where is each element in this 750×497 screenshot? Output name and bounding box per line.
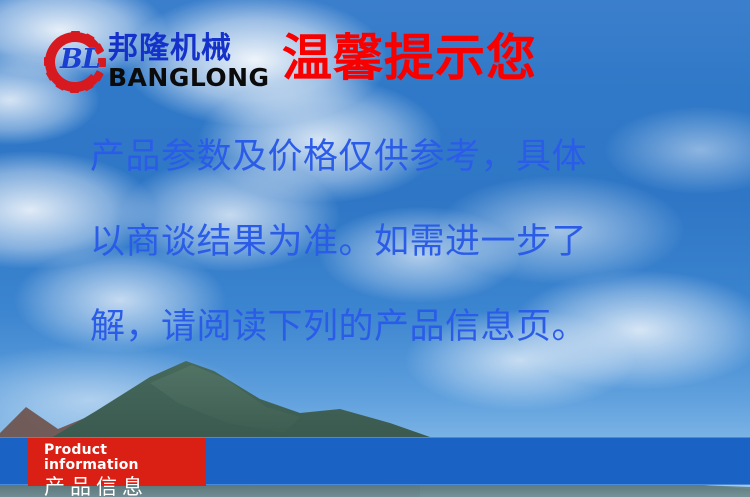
logo-company-cn: 邦隆机械: [108, 33, 270, 65]
brand-logo: BL 邦隆机械 BANGLONG: [44, 26, 270, 98]
section-label-block: Product information 产品信息: [28, 438, 206, 486]
headline-title: 温馨提示您: [282, 33, 537, 83]
section-label-cn: 产品信息: [44, 475, 206, 497]
section-bar: Product information 产品信息: [0, 437, 750, 485]
logo-company-en: BANGLONG: [108, 65, 270, 91]
notice-text-block: 产品参数及价格仅供参考，具体 以商谈结果为准。如需进一步了 解，请阅读下列的产品…: [90, 140, 700, 345]
section-label-en: Product information: [44, 443, 206, 474]
notice-line-1: 产品参数及价格仅供参考，具体: [90, 140, 700, 175]
logo-wordmark: 邦隆机械 BANGLONG: [108, 33, 270, 92]
notice-line-2: 以商谈结果为准。如需进一步了: [90, 225, 700, 260]
notice-line-3: 解，请阅读下列的产品信息页。: [90, 310, 700, 345]
gear-icon: BL: [44, 31, 106, 93]
promo-banner: BL 邦隆机械 BANGLONG 温馨提示您 产品参数及价格仅供参考，具体 以商…: [0, 0, 750, 497]
logo-monogram: BL: [60, 46, 100, 73]
